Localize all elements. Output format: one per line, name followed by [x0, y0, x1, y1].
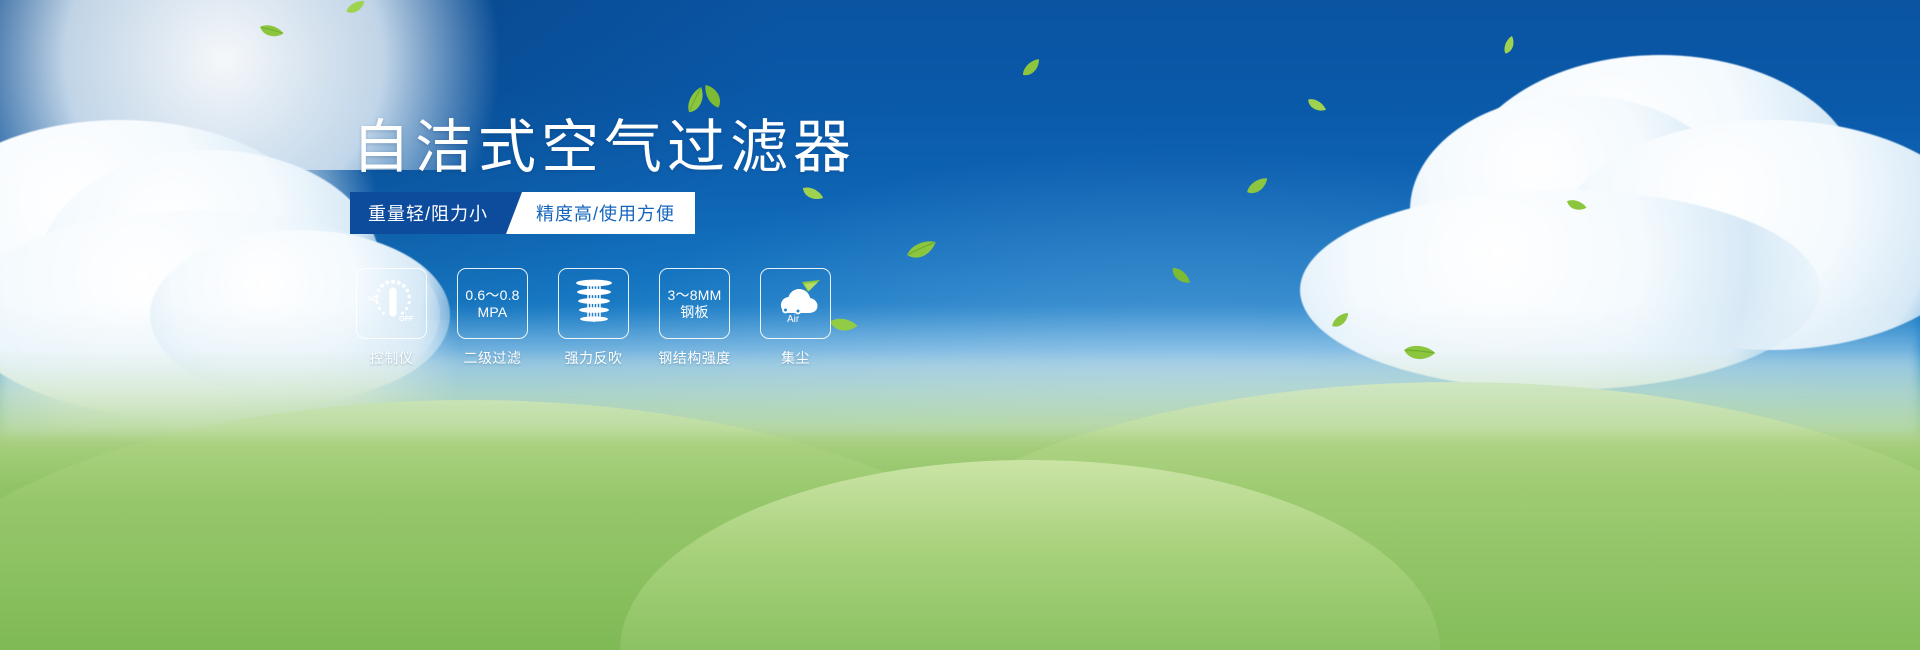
badge-secondary-label: 精度高/使用方便 [536, 200, 675, 226]
pressure-text-icon-line1: 0.6〜0.8 [465, 287, 519, 304]
feature-item-pressure: 0.6〜0.8 MPA 二级过滤 [457, 268, 528, 368]
badge-group: 重量轻/阻力小 精度高/使用方便 [350, 192, 695, 234]
feature-icon-box: 3〜8MM 钢板 [659, 268, 730, 339]
gauge-left-label: NO [368, 296, 379, 303]
feature-item-steel: 3〜8MM 钢板 钢结构强度 [659, 268, 730, 368]
steel-plate-text-icon-line1: 3〜8MM [668, 287, 722, 304]
feature-caption: 强力反吹 [565, 348, 623, 368]
feature-icon-box: NO OFF [356, 268, 427, 339]
gauge-controller-icon: NO OFF [363, 274, 421, 333]
pressure-text-icon-line2: MPA [478, 304, 508, 321]
feature-caption: 二级过滤 [464, 348, 522, 368]
filter-cartridge-icon [569, 275, 619, 332]
feature-icon-box: Air [760, 268, 831, 339]
feature-icon-box: 0.6〜0.8 MPA [457, 268, 528, 339]
feature-item-blowback: 强力反吹 [558, 268, 629, 368]
air-cloud-icon: Air [768, 279, 824, 328]
badge-primary: 重量轻/阻力小 [350, 192, 522, 234]
steel-plate-text-icon-line2: 钢板 [680, 304, 708, 321]
feature-icon-box [558, 268, 629, 339]
feature-caption: 集尘 [781, 348, 810, 368]
badge-primary-label: 重量轻/阻力小 [368, 200, 488, 226]
feature-item-dust: Air 集尘 [760, 268, 831, 368]
gauge-right-label: OFF [399, 316, 414, 323]
hero-banner: 自洁式空气过滤器 重量轻/阻力小 精度高/使用方便 [0, 0, 1920, 650]
air-label: Air [787, 314, 800, 323]
page-title: 自洁式空气过滤器 [352, 118, 856, 178]
feature-caption: 控制仪 [370, 348, 414, 368]
feature-list: NO OFF 控制仪 0.6〜0.8 MPA 二级过滤 [356, 268, 831, 368]
feature-caption: 钢结构强度 [658, 348, 731, 368]
feature-item-controller: NO OFF 控制仪 [356, 268, 427, 368]
badge-secondary: 精度高/使用方便 [506, 192, 695, 234]
banner-content: 自洁式空气过滤器 重量轻/阻力小 精度高/使用方便 [0, 0, 1920, 650]
